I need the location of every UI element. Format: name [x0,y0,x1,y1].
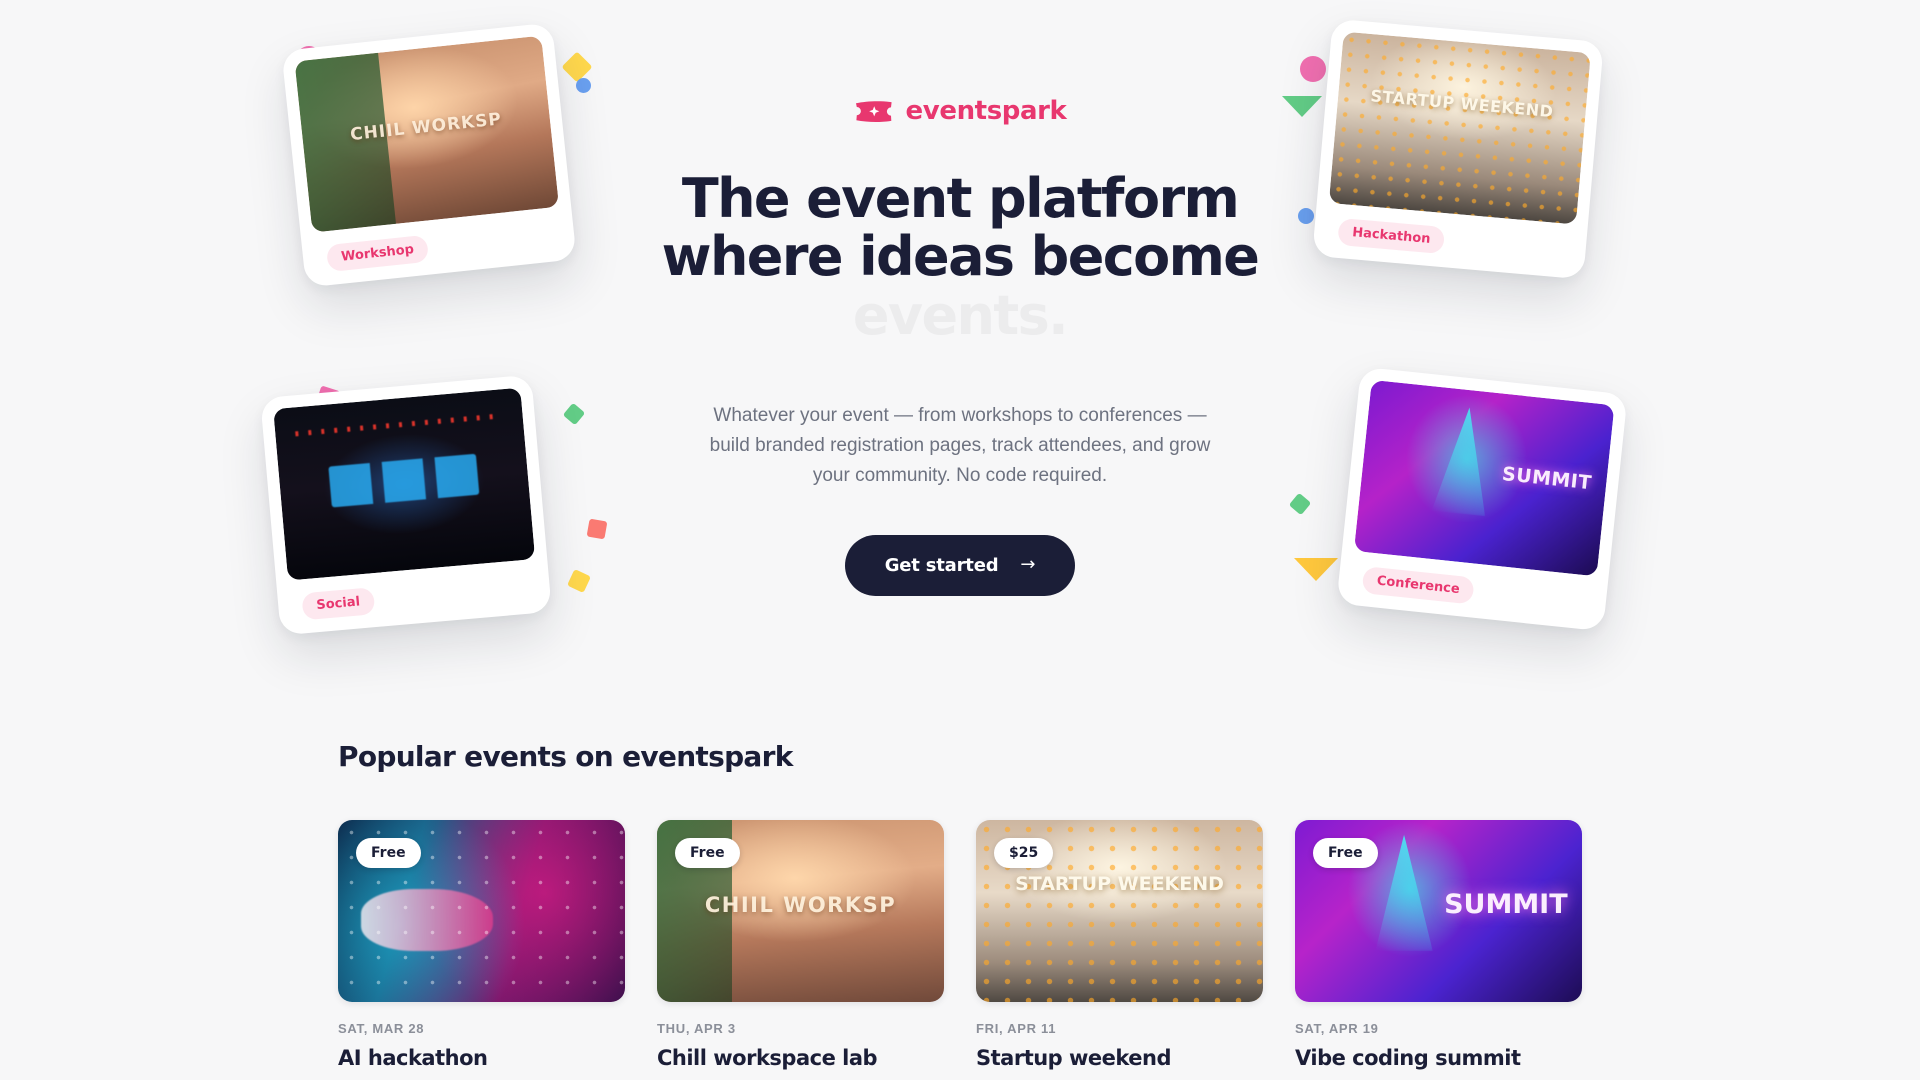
category-chip-hackathon[interactable]: Hackathon [1337,217,1445,253]
green-stroke-2 [1289,493,1312,516]
ticket-sparkle-icon [854,98,894,125]
event-thumbnail: $25 [976,820,1263,1002]
event-thumbnail: Free [657,820,944,1002]
event-date: FRI, APR 11 [976,1021,1263,1036]
event-card[interactable]: FreeSAT, APR 19Vibe coding summit [1295,820,1582,1071]
floating-card-workshop[interactable]: Workshop [281,22,576,287]
event-grid: FreeSAT, MAR 28AI hackathonFreeTHU, APR … [338,820,1582,1071]
price-badge: Free [1313,838,1378,868]
category-chip-social[interactable]: Social [301,587,375,620]
floating-card-conference[interactable]: Conference [1336,367,1627,632]
event-date: SAT, APR 19 [1295,1021,1582,1036]
green-stroke [563,403,586,426]
event-card[interactable]: $25FRI, APR 11Startup weekend [976,820,1263,1071]
event-title: Startup weekend [976,1045,1263,1071]
category-chip-workshop[interactable]: Workshop [326,234,429,271]
event-title: Chill workspace lab [657,1045,944,1071]
event-date: SAT, MAR 28 [338,1021,625,1036]
price-badge: Free [675,838,740,868]
green-triangle-2 [1282,96,1322,117]
subcopy-line-1: Whatever your event — from workshops to … [713,405,1206,426]
pink-circle-2 [1300,56,1326,82]
subcopy-line-2: build branded registration pages, track … [710,435,1211,456]
hero-subcopy: Whatever your event — from workshops to … [700,401,1220,491]
arrow-right-icon: → [1020,556,1035,574]
brand-name: eventspark [906,96,1067,126]
headline-line-1: The event platform [650,170,1270,228]
floating-card-photo-workshop [294,36,559,233]
get-started-button[interactable]: Get started → [845,535,1076,596]
floating-card-photo-hackathon [1329,32,1591,225]
yellow-chip [567,569,591,593]
cta-row: Get started → [650,535,1270,596]
floating-card-hackathon[interactable]: Hackathon [1312,19,1604,280]
event-card[interactable]: FreeSAT, MAR 28AI hackathon [338,820,625,1071]
landing-page: WorkshopHackathonSocialConference events… [0,0,1920,1080]
yellow-diamond [561,51,592,82]
brand-logo[interactable]: eventspark [650,96,1270,126]
headline-line-3: events. [650,287,1270,345]
price-badge: Free [356,838,421,868]
headline-line-2: where ideas become [650,228,1270,286]
subcopy-line-3: your community. No code required. [813,465,1107,486]
event-card[interactable]: FreeTHU, APR 3Chill workspace lab [657,820,944,1071]
price-badge: $25 [994,838,1053,868]
event-date: THU, APR 3 [657,1021,944,1036]
yellow-triangle [1294,558,1338,581]
blue-circle [576,78,591,93]
category-chip-conference[interactable]: Conference [1362,566,1475,604]
hero-headline: The event platform where ideas become ev… [650,170,1270,345]
event-title: Vibe coding summit [1295,1045,1582,1071]
hero-content: eventspark The event platform where idea… [650,96,1270,596]
blue-circle-2 [1298,208,1314,224]
event-title: AI hackathon [338,1045,625,1071]
event-thumbnail: Free [338,820,625,1002]
hero-section: WorkshopHackathonSocialConference events… [0,0,1920,700]
popular-events-section: Popular events on eventspark FreeSAT, MA… [0,740,1920,1071]
floating-card-photo-social [273,388,535,581]
floating-card-photo-conference [1354,380,1615,577]
floating-card-social[interactable]: Social [260,375,552,636]
get-started-label: Get started [885,555,999,576]
coral-bar [587,519,608,540]
section-title: Popular events on eventspark [338,740,1582,773]
event-thumbnail: Free [1295,820,1582,1002]
